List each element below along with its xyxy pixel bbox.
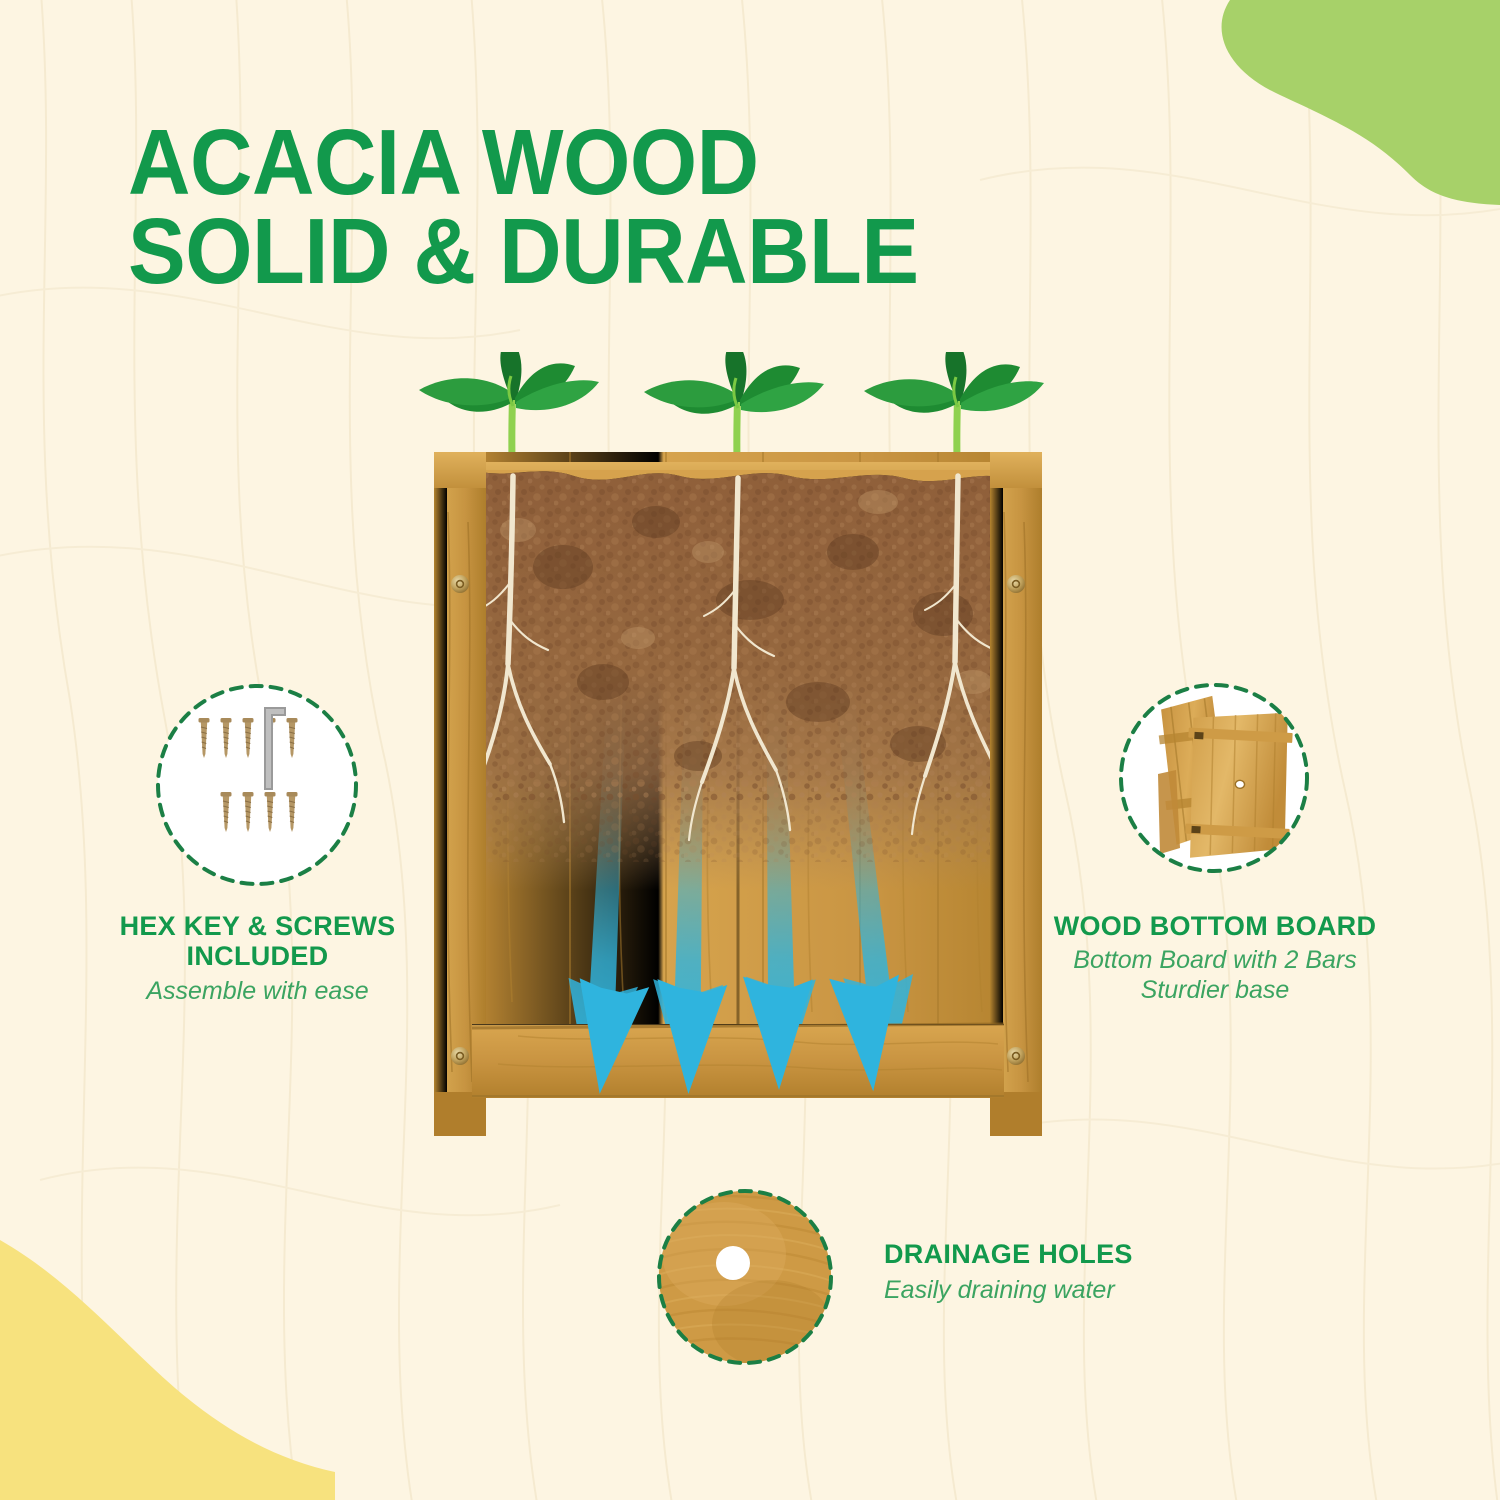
feature-badge-drainage-holes	[652, 1184, 842, 1374]
corner-blob-green-top-right	[1170, 0, 1500, 205]
feature-title-hex-key-screws: HEX KEY & SCREWS INCLUDED	[110, 912, 405, 971]
planter-bottom-rail	[472, 1024, 1004, 1098]
screws-and-hex-key-icon	[152, 680, 362, 890]
feature-title-drainage-holes: DRAINAGE HOLES	[884, 1240, 1304, 1270]
title-line-2: SOLID & DURABLE	[128, 207, 965, 296]
feature-title-line-2: INCLUDED	[187, 941, 329, 971]
page-title: ACACIA WOOD SOLID & DURABLE	[128, 118, 965, 297]
planter-box-cutaway-illustration	[398, 352, 1078, 1142]
feature-subtitle-hex-key-screws: Assemble with ease	[110, 977, 405, 1007]
feature-title-line-1: HEX KEY & SCREWS	[120, 911, 396, 941]
feature-subtitle-wood-bottom-board: Bottom Board with 2 Bars Sturdier base	[1020, 946, 1410, 1005]
drainage-hole-disc-icon	[652, 1184, 842, 1374]
feature-subtitle-drainage-holes: Easily draining water	[884, 1276, 1304, 1306]
drainage-hole	[716, 1246, 750, 1280]
feature-badge-hex-key-screws	[152, 680, 362, 890]
corner-blob-yellow-bottom-left	[0, 1220, 335, 1500]
wood-bottom-board-icon	[1114, 678, 1314, 878]
feature-subtitle-line-2: Sturdier base	[1141, 976, 1290, 1004]
feature-title-wood-bottom-board: WOOD BOTTOM BOARD	[1020, 912, 1410, 942]
feature-badge-wood-bottom-board	[1114, 678, 1314, 878]
infographic-canvas: ACACIA WOOD SOLID & DURABLE	[0, 0, 1500, 1500]
feature-subtitle-line-1: Bottom Board with 2 Bars	[1073, 946, 1356, 974]
